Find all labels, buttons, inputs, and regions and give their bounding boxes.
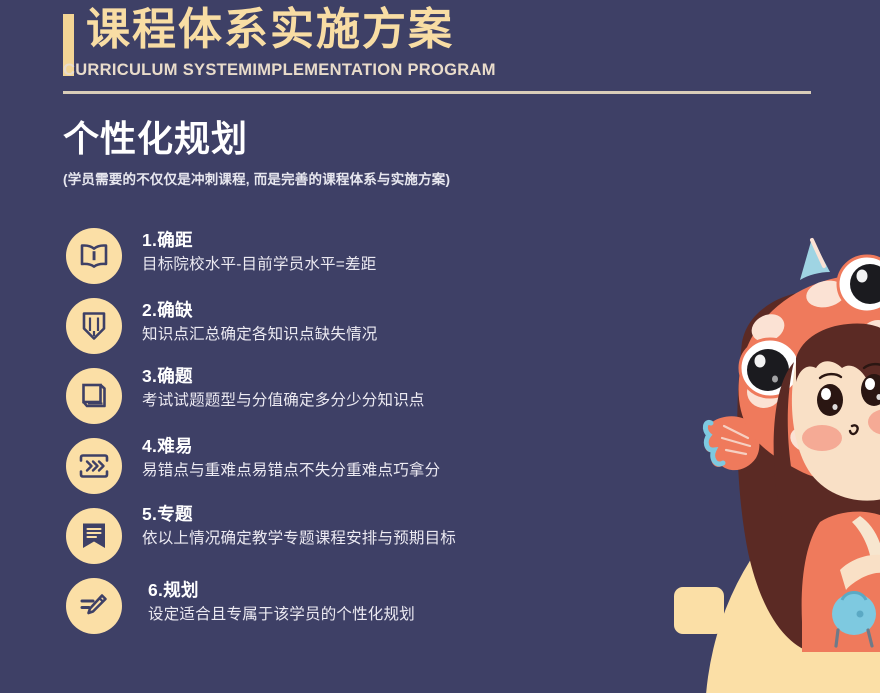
slide-canvas: 课程体系实施方案 CURRICULUM SYSTEMIMPLEMENTATION… xyxy=(0,0,880,693)
list-item[interactable]: 5.专题 依以上情况确定教学专题课程安排与预期目标 xyxy=(66,508,706,578)
list-item-body: 4.难易 易错点与重难点易错点不失分重难点巧拿分 xyxy=(142,436,440,480)
pencil-lines-icon xyxy=(66,578,122,634)
list-item-desc: 设定适合且专属于该学员的个性化规划 xyxy=(148,605,415,624)
list-item-title: 5.专题 xyxy=(142,504,456,525)
list-item-body: 2.确缺 知识点汇总确定各知识点缺失情况 xyxy=(142,300,378,344)
closed-book-icon xyxy=(66,368,122,424)
list-item-title: 1.确距 xyxy=(142,230,376,251)
slide-header: 课程体系实施方案 CURRICULUM SYSTEMIMPLEMENTATION… xyxy=(0,0,880,105)
list-item[interactable]: 4.难易 易错点与重难点易错点不失分重难点巧拿分 xyxy=(66,438,706,508)
page-title: 个性化规划 xyxy=(63,118,783,159)
list-item-title: 2.确缺 xyxy=(142,300,378,321)
shield-badge-icon xyxy=(66,298,122,354)
girl-in-fish-hood-illustration xyxy=(702,222,880,652)
header-divider xyxy=(63,91,811,94)
list-item[interactable]: 6.规划 设定适合且专属于该学员的个性化规划 xyxy=(66,578,706,648)
list-item-desc: 依以上情况确定教学专题课程安排与预期目标 xyxy=(142,529,456,548)
feature-list: 1.确距 目标院校水平-目前学员水平=差距 2.确缺 知识点汇总确定各知识点缺失… xyxy=(66,228,706,648)
list-item-desc: 考试试题题型与分值确定多分少分知识点 xyxy=(142,391,425,410)
list-item-title: 4.难易 xyxy=(142,436,440,457)
page-subtitle: (学员需要的不仅仅是冲刺课程, 而是完善的课程体系与实施方案) xyxy=(63,168,783,188)
chevrons-icon xyxy=(66,438,122,494)
header-title-cn: 课程体系实施方案 xyxy=(86,8,454,52)
list-item-desc: 目标院校水平-目前学员水平=差距 xyxy=(142,255,376,274)
list-item-body: 3.确题 考试试题题型与分值确定多分少分知识点 xyxy=(142,366,425,410)
list-item-title: 6.规划 xyxy=(148,580,415,601)
list-item-desc: 易错点与重难点易错点不失分重难点巧拿分 xyxy=(142,461,440,480)
bookmark-lines-icon xyxy=(66,508,122,564)
list-item-title: 3.确题 xyxy=(142,366,425,387)
list-item-body: 5.专题 依以上情况确定教学专题课程安排与预期目标 xyxy=(142,504,456,548)
list-item[interactable]: 3.确题 考试试题题型与分值确定多分少分知识点 xyxy=(66,368,706,438)
cream-blob-top xyxy=(800,370,880,610)
list-item-body: 1.确距 目标院校水平-目前学员水平=差距 xyxy=(142,230,376,274)
list-item-body: 6.规划 设定适合且专属于该学员的个性化规划 xyxy=(148,580,415,624)
list-item[interactable]: 2.确缺 知识点汇总确定各知识点缺失情况 xyxy=(66,298,706,368)
list-item-desc: 知识点汇总确定各知识点缺失情况 xyxy=(142,325,378,344)
header-title-en: CURRICULUM SYSTEMIMPLEMENTATION PROGRAM xyxy=(63,61,496,80)
section-heading-block: 个性化规划 (学员需要的不仅仅是冲刺课程, 而是完善的课程体系与实施方案) xyxy=(63,118,783,188)
list-item[interactable]: 1.确距 目标院校水平-目前学员水平=差距 xyxy=(66,228,706,298)
open-book-icon xyxy=(66,228,122,284)
